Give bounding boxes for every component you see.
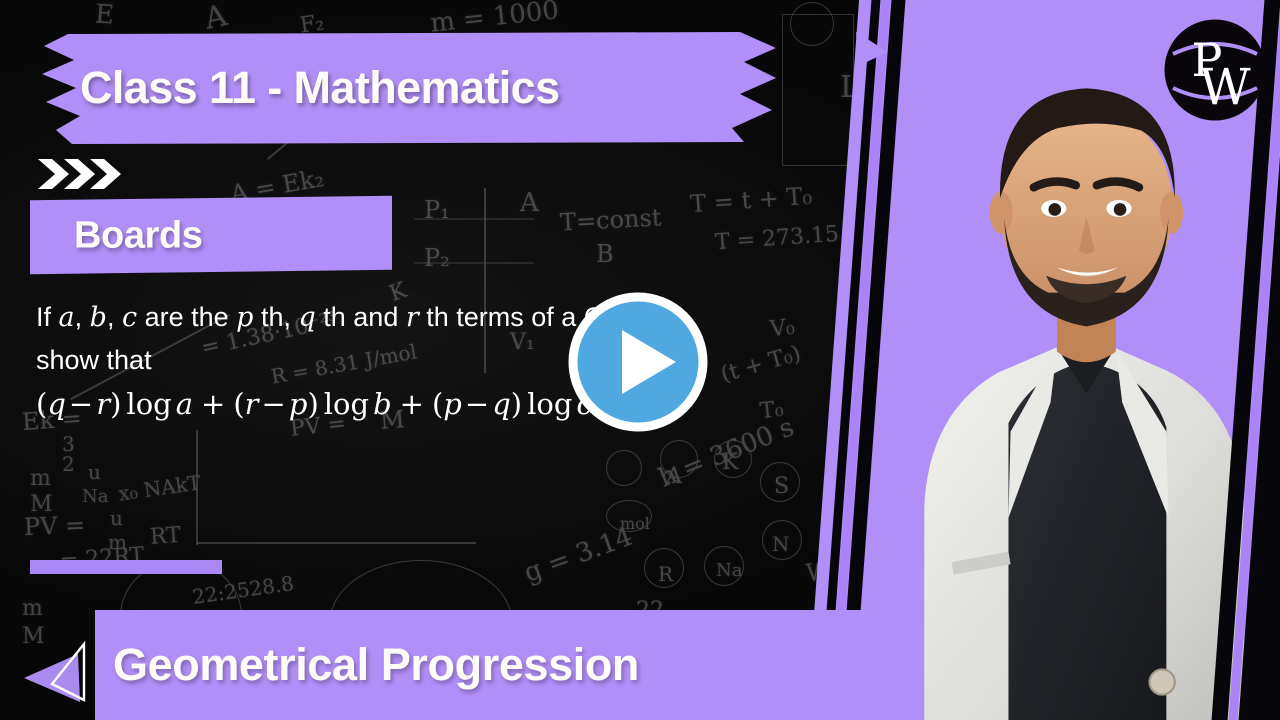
play-triangle-icon <box>854 28 890 68</box>
paren-close-1: ) <box>110 387 121 421</box>
log-arg-b: b <box>369 387 392 421</box>
minus-2: − <box>259 387 289 421</box>
var-c: c <box>122 302 137 333</box>
q-mid-2: th, <box>253 302 298 332</box>
class-title-text: Class 11 - Mathematics <box>80 62 560 114</box>
paren-open-2: ( <box>233 387 244 421</box>
triple-chevron-right-icon <box>36 157 126 191</box>
boards-banner: Boards <box>30 196 392 274</box>
video-thumbnail: m = 1000AEF₂LmgA = Ek₂P₁AT=constBP₂T = t… <box>0 0 1280 720</box>
formula-q-1: q <box>47 387 66 421</box>
log-3: log <box>522 387 572 421</box>
paren-open-3: ( <box>432 387 443 421</box>
var-q: q <box>298 302 315 333</box>
back-triangle-icon <box>22 630 94 708</box>
minus-3: − <box>462 387 492 421</box>
purple-divider <box>30 560 222 574</box>
minus-1: − <box>66 387 96 421</box>
formula-r-2: r <box>245 387 259 421</box>
q-mid-1: are the <box>137 302 236 332</box>
paren-close-3: ) <box>511 387 522 421</box>
plus-2: + <box>392 387 432 421</box>
svg-text:W: W <box>1199 58 1251 116</box>
log-1: log <box>121 387 171 421</box>
var-b: b <box>90 302 107 333</box>
plus-1: + <box>193 387 233 421</box>
q-pre: If <box>36 302 59 332</box>
formula-p-2: p <box>289 387 308 421</box>
paren-open-1: ( <box>36 387 47 421</box>
class-title-banner: Class 11 - Mathematics <box>28 32 776 144</box>
boards-label: Boards <box>74 214 203 257</box>
q-sep-2: , <box>107 302 122 332</box>
var-p: p <box>236 302 253 333</box>
formula-q-3: q <box>492 387 511 421</box>
q-sep-1: , <box>75 302 90 332</box>
paren-close-2: ) <box>307 387 318 421</box>
topic-banner: Geometrical Progression <box>95 610 885 720</box>
play-button[interactable] <box>568 292 708 432</box>
log-2: log <box>319 387 369 421</box>
log-arg-a: a <box>172 387 193 421</box>
formula-r-1: r <box>96 387 110 421</box>
var-r: r <box>406 302 419 333</box>
var-a: a <box>59 302 75 333</box>
q-mid-3: th and <box>316 302 406 332</box>
topic-title: Geometrical Progression <box>113 639 639 691</box>
formula-p-3: p <box>443 387 462 421</box>
pw-logo: P W <box>1163 18 1267 122</box>
